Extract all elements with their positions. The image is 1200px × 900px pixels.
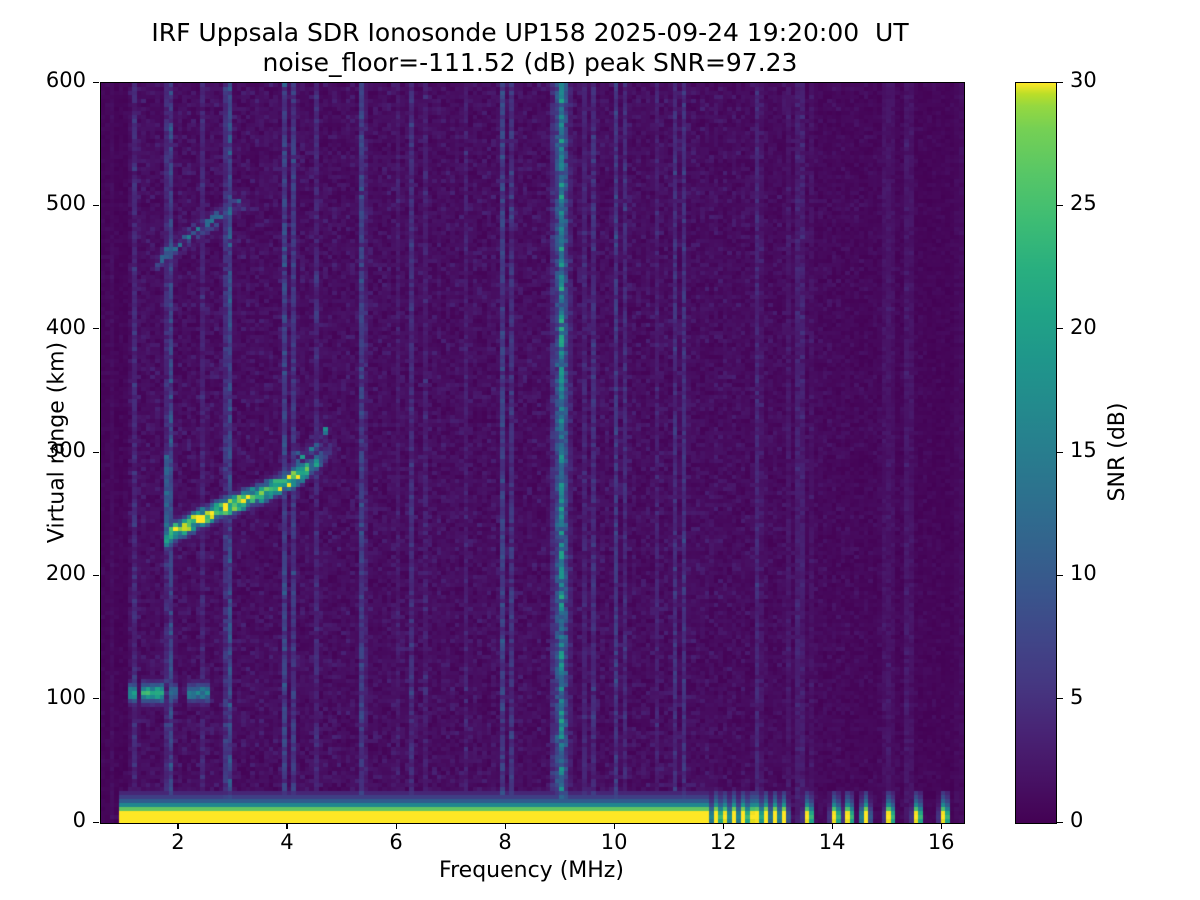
x-tick-label: 8	[498, 830, 511, 854]
x-tick-label: 12	[710, 830, 737, 854]
colorbar-tick-label: 30	[1070, 68, 1097, 92]
colorbar-tick-label: 10	[1070, 561, 1097, 585]
y-tick-label: 200	[0, 561, 86, 585]
ionogram-figure: IRF Uppsala SDR Ionosonde UP158 2025-09-…	[0, 0, 1200, 900]
colorbar-label: SNR (dB)	[1105, 252, 1130, 652]
x-tick-label: 4	[280, 830, 293, 854]
y-tick-label: 500	[0, 191, 86, 215]
y-tick-label: 300	[0, 438, 86, 462]
y-tick-mark	[93, 328, 99, 329]
x-tick-mark	[505, 823, 506, 829]
colorbar-tick-label: 15	[1070, 438, 1097, 462]
colorbar-tick-label: 20	[1070, 315, 1097, 339]
y-tick-mark	[93, 82, 99, 83]
x-tick-mark	[614, 823, 615, 829]
colorbar-tick-mark	[1057, 205, 1063, 206]
y-tick-mark	[93, 698, 99, 699]
x-tick-mark	[832, 823, 833, 829]
y-tick-label: 600	[0, 68, 86, 92]
y-tick-label: 100	[0, 685, 86, 709]
colorbar-tick-mark	[1057, 822, 1063, 823]
x-tick-mark	[286, 823, 287, 829]
colorbar-tick-mark	[1057, 575, 1063, 576]
colorbar-tick-mark	[1057, 698, 1063, 699]
title-line-2: noise_floor=-111.52 (dB) peak SNR=97.23	[0, 48, 1060, 78]
y-tick-mark	[93, 575, 99, 576]
ionogram-plot-area[interactable]	[100, 82, 965, 824]
colorbar-tick-label: 5	[1070, 685, 1083, 709]
x-tick-label: 2	[171, 830, 184, 854]
colorbar-tick-mark	[1057, 452, 1063, 453]
y-tick-mark	[93, 205, 99, 206]
y-tick-label: 0	[0, 808, 86, 832]
y-tick-mark	[93, 452, 99, 453]
page-title: IRF Uppsala SDR Ionosonde UP158 2025-09-…	[0, 18, 1060, 78]
x-tick-mark	[177, 823, 178, 829]
x-tick-mark	[941, 823, 942, 829]
y-tick-label: 400	[0, 315, 86, 339]
y-tick-mark	[93, 822, 99, 823]
colorbar-tick-mark	[1057, 328, 1063, 329]
colorbar-tick-label: 0	[1070, 808, 1083, 832]
colorbar	[1015, 82, 1057, 824]
x-tick-label: 14	[819, 830, 846, 854]
x-axis-label: Frequency (MHz)	[100, 858, 963, 883]
x-tick-label: 16	[928, 830, 955, 854]
x-tick-mark	[396, 823, 397, 829]
x-tick-label: 10	[601, 830, 628, 854]
x-tick-label: 6	[389, 830, 402, 854]
title-line-1: IRF Uppsala SDR Ionosonde UP158 2025-09-…	[0, 18, 1060, 48]
colorbar-tick-mark	[1057, 82, 1063, 83]
x-tick-mark	[723, 823, 724, 829]
colorbar-tick-label: 25	[1070, 191, 1097, 215]
ionogram-heatmap-canvas	[101, 83, 964, 823]
